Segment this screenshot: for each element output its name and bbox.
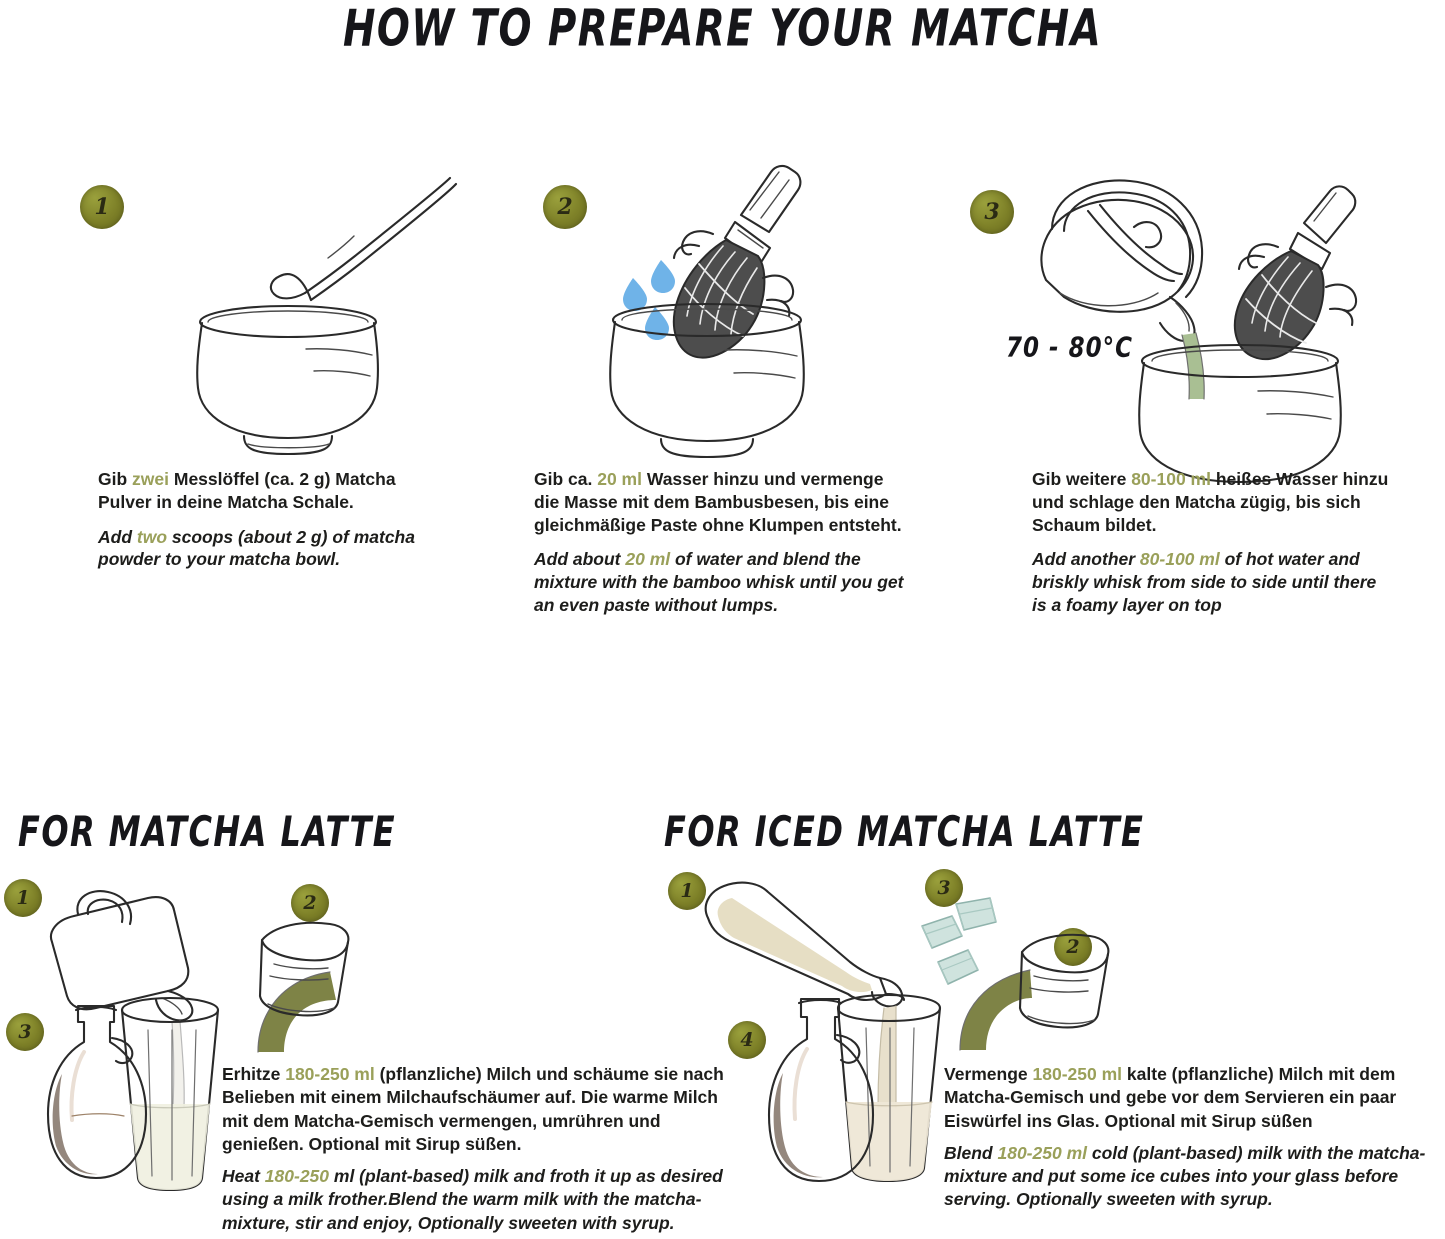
step-3-caption-en: Add another 80-100 ml of hot water and b… (1032, 548, 1392, 616)
step-badge-2: 2 (543, 185, 587, 229)
section-title-iced-matcha-latte: FOR ICED MATCHA LATTE (664, 807, 1144, 857)
step-1-caption-de: Gib zwei Messlöffel (ca. 2 g) Matcha Pul… (98, 468, 448, 514)
illustration-bowl-with-scoop (140, 170, 480, 460)
step-badge-1: 1 (80, 185, 124, 229)
matcha-latte-caption: Erhitze 180-250 ml (pflanzliche) Milch u… (222, 1063, 727, 1235)
page-title: HOW TO PREPARE YOUR MATCHA (22, 0, 1424, 58)
iced-matcha-latte-caption-en: Blend 180-250 ml cold (plant-based) milk… (944, 1142, 1439, 1212)
illustration-whisk-over-bowl (595, 160, 925, 460)
step-2-caption-en: Add about 20 ml of water and blend the m… (534, 548, 904, 616)
matcha-latte-caption-de: Erhitze 180-250 ml (pflanzliche) Milch u… (222, 1063, 727, 1156)
iced-matcha-latte-caption-de: Vermenge 180-250 ml kalte (pflanzliche) … (944, 1063, 1439, 1133)
step-1-caption-en: Add two scoops (about 2 g) of matcha pow… (98, 526, 448, 572)
step-2-caption-de: Gib ca. 20 ml Wasser hinzu und vermenge … (534, 468, 904, 536)
matcha-latte-caption-en: Heat 180-250 ml (plant-based) milk and f… (222, 1165, 727, 1235)
step-1-caption: Gib zwei Messlöffel (ca. 2 g) Matcha Pul… (98, 468, 448, 571)
illustration-pouring-bowl-iced (992, 930, 1112, 1035)
illustration-pouring-bowl-latte (232, 918, 352, 1023)
step-badge-3: 3 (970, 190, 1014, 234)
step-2-caption: Gib ca. 20 ml Wasser hinzu und vermenge … (534, 468, 904, 617)
illustration-kettle-pour-with-whisk (1030, 175, 1410, 460)
infographic-page: HOW TO PREPARE YOUR MATCHA 1 Gib zwei Me… (0, 0, 1445, 1239)
iced-matcha-latte-caption: Vermenge 180-250 ml kalte (pflanzliche) … (944, 1063, 1439, 1212)
step-3-caption: Gib weitere 80-100 ml heißes Wasser hinz… (1032, 468, 1392, 617)
illustration-syrup-bottle-latte (44, 1000, 154, 1185)
step-3-caption-de: Gib weitere 80-100 ml heißes Wasser hinz… (1032, 468, 1392, 536)
illustration-syrup-bottle-iced (765, 993, 880, 1188)
section-title-matcha-latte: FOR MATCHA LATTE (18, 807, 396, 857)
